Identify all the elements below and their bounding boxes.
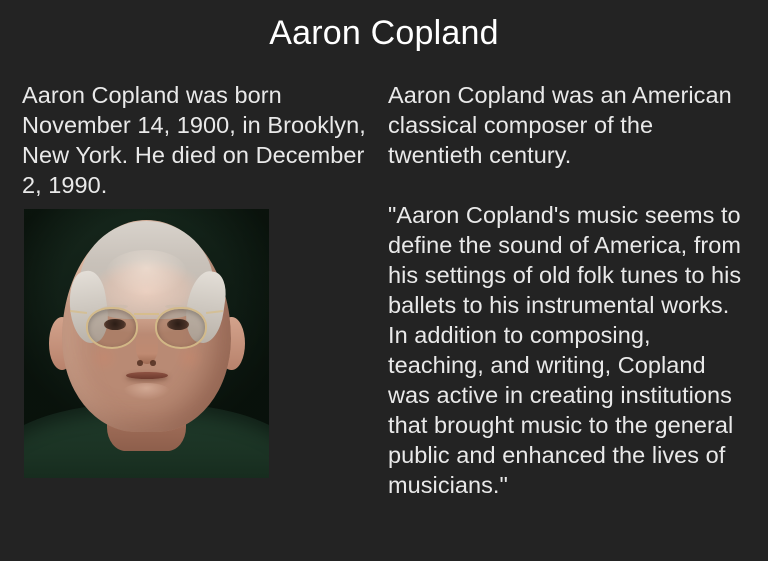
chin-highlight [123,383,170,400]
nostril-right-shape [150,360,156,366]
page-title: Aaron Copland [0,11,768,55]
mouth-shape [126,372,168,380]
portrait-photo-frame [24,209,269,478]
glasses-bridge-shape [134,313,158,315]
slide-canvas: Aaron Copland Aaron Copland was born Nov… [0,0,768,561]
biography-paragraph: Aaron Copland was born November 14, 1900… [22,80,374,200]
quotation-paragraph: "Aaron Copland's music seems to define t… [388,200,750,500]
right-text-column: Aaron Copland was an American classical … [388,80,750,500]
portrait-image [24,209,269,478]
head-shape [62,220,231,433]
forehead-highlight [106,250,187,297]
description-paragraph: Aaron Copland was an American classical … [388,80,750,170]
left-text-column: Aaron Copland was born November 14, 1900… [22,80,374,200]
eye-right-shape [167,319,189,331]
nostril-left-shape [137,360,143,366]
